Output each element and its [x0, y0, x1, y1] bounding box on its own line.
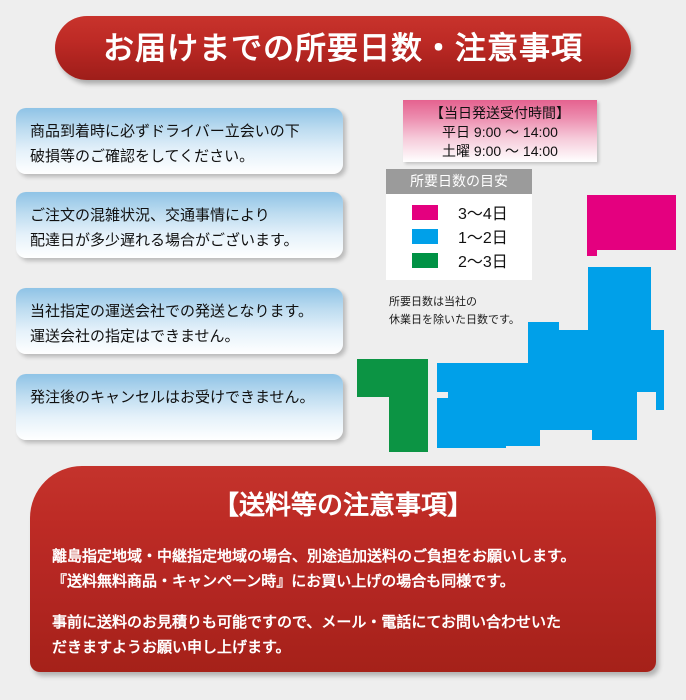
- legend-header: 所要日数の目安: [386, 169, 532, 194]
- shipping-notice-line: 事前に送料のお見積りも可能ですので、メール・電話にてお問い合わせいた: [52, 610, 634, 635]
- same-day-shipping-hours-box: 【当日発送受付時間】 平日 9:00 ～ 14:00 土曜 9:00 ～ 14:…: [403, 100, 597, 162]
- hours-box-title: 【当日発送受付時間】: [403, 103, 597, 123]
- shipping-notice-heading: 【送料等の注意事項】: [52, 466, 634, 518]
- legend-footnote-line: 休業日を除いた日数です。: [389, 311, 569, 329]
- note-line: ご注文の混雑状況、交通事情により: [30, 203, 329, 228]
- note-box-cancellation: 発注後のキャンセルはお受けできません。: [16, 374, 343, 440]
- legend-swatch-magenta: [412, 205, 438, 220]
- note-line: 発注後のキャンセルはお受けできません。: [30, 385, 329, 410]
- note-line: 配達日が多少遅れる場合がございます。: [30, 228, 329, 253]
- hours-saturday: 土曜 9:00 ～ 14:00: [403, 142, 597, 161]
- note-line: 破損等のご確認をしてください。: [30, 144, 329, 169]
- legend-row-3-4-days: 3～4日: [386, 200, 532, 224]
- map-region-shikoku: [437, 398, 506, 448]
- legend-label: 2～3日: [458, 248, 508, 272]
- note-box-delay: ご注文の混雑状況、交通事情により 配達日が多少遅れる場合がございます。: [16, 192, 343, 258]
- hours-weekday: 平日 9:00 ～ 14:00: [403, 123, 597, 142]
- legend-row-1-2-days: 1～2日: [386, 224, 532, 248]
- shipping-notice-line: だきますようお願い申し上げます。: [52, 635, 634, 660]
- shipping-notice-line: 離島指定地域・中継指定地域の場合、別途追加送料のご負担をお願いします。: [52, 544, 634, 569]
- note-line: 当社指定の運送会社での発送となります。: [30, 299, 329, 324]
- shipping-notice-panel: 【送料等の注意事項】 離島指定地域・中継指定地域の場合、別途追加送料のご負担をお…: [30, 466, 656, 672]
- shipping-notice-spacer: [52, 594, 634, 610]
- legend-label: 1～2日: [458, 224, 508, 248]
- legend-footnote: 所要日数は当社の 休業日を除いた日数です。: [389, 293, 569, 329]
- note-box-carrier: 当社指定の運送会社での発送となります。 運送会社の指定はできません。: [16, 288, 343, 354]
- legend-items: 3～4日 1～2日 2～3日: [386, 194, 532, 280]
- map-region-kyushu: [357, 359, 428, 452]
- delivery-days-legend: 所要日数の目安 3～4日 1～2日 2～3日: [386, 169, 532, 280]
- legend-row-2-3-days: 2～3日: [386, 248, 532, 272]
- note-box-delivery-inspection: 商品到着時に必ずドライバー立会いの下 破損等のご確認をしてください。: [16, 108, 343, 174]
- legend-label: 3～4日: [458, 200, 508, 224]
- note-line: 商品到着時に必ずドライバー立会いの下: [30, 119, 329, 144]
- map-region-hokkaido: [587, 195, 676, 256]
- page-title-banner: お届けまでの所要日数・注意事項: [55, 16, 631, 80]
- shipping-notice-body: 離島指定地域・中継指定地域の場合、別途追加送料のご負担をお願いします。 『送料無…: [52, 544, 634, 660]
- legend-footnote-line: 所要日数は当社の: [389, 293, 569, 311]
- shipping-notice-line: 『送料無料商品・キャンペーン時』にお買い上げの場合も同様です。: [52, 569, 634, 594]
- note-line: 運送会社の指定はできません。: [30, 324, 329, 349]
- legend-swatch-blue: [412, 229, 438, 244]
- page-title: お届けまでの所要日数・注意事項: [103, 33, 583, 64]
- legend-swatch-green: [412, 253, 438, 268]
